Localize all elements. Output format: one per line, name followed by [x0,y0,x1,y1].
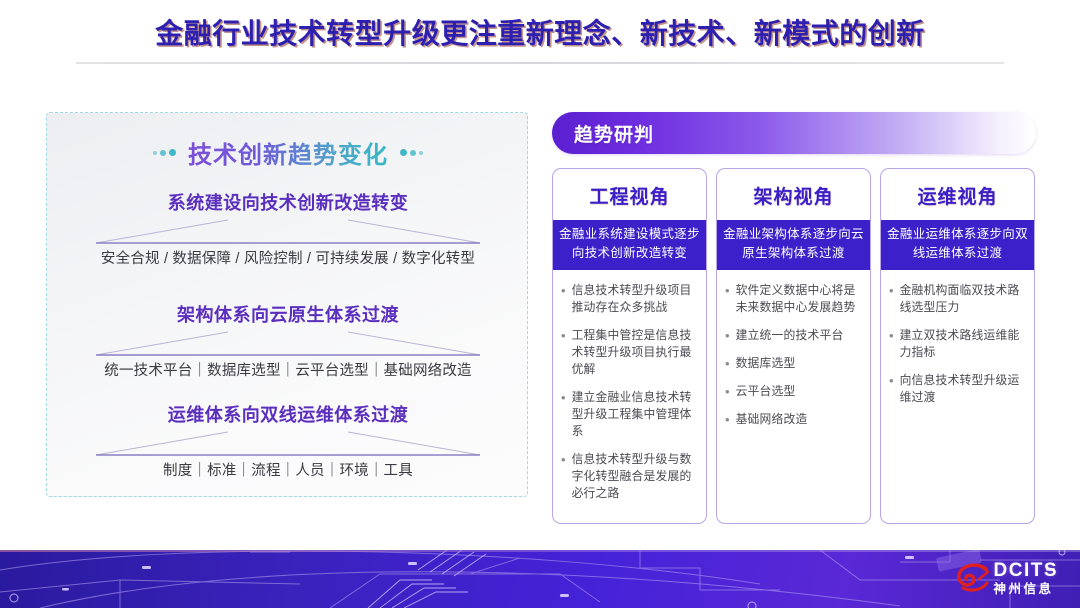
bullet-dot-icon: • [889,327,894,361]
funnel-shape-2-icon [88,331,488,357]
trend-group-2: 架构体系向云原生体系过渡 统一技术平台｜数据库选型｜云平台选型｜基础网络改造 [47,301,529,380]
funnel-shape-1-icon [88,219,488,245]
trend-judgement-banner: 趋势研判 [552,112,1036,154]
dcits-swirl-icon [955,563,989,593]
perspective-card[interactable]: 运维视角 金融业运维体系逐步向双线运维体系过渡 • 金融机构面临双技术路线选型压… [880,168,1035,524]
list-item-label: 数据库选型 [736,355,796,372]
list-item-label: 建立统一的技术平台 [736,327,844,344]
footer-top-edge [0,550,1080,552]
bullet-dot-icon: • [561,389,566,440]
circuit-pattern-icon [0,550,1080,608]
trend-change-panel: 技术创新趋势变化 系统建设向技术创新改造转变 安全合规 / 数据保障 / 风险控… [46,112,528,497]
card-title: 工程视角 [553,169,706,220]
list-item: • 建立统一的技术平台 [725,327,862,344]
list-item-label: 软件定义数据中心将是未来数据中心发展趋势 [736,282,862,316]
page-title: 金融行业技术转型升级更注重新理念、新技术、新模式的创新 [0,12,1080,52]
bullet-dot-icon: • [725,383,730,400]
trend-group-3-items: 制度｜标准｜流程｜人员｜环境｜工具 [47,459,529,480]
slide-header: 金融行业技术转型升级更注重新理念、新技术、新模式的创新 [0,0,1080,72]
trend-group-1-items: 安全合规 / 数据保障 / 风险控制 / 可持续发展 / 数字化转型 [47,247,529,268]
bullet-dot-icon: • [561,327,566,378]
list-item-label: 云平台选型 [736,383,796,400]
trend-group-1: 系统建设向技术创新改造转变 安全合规 / 数据保障 / 风险控制 / 可持续发展… [47,189,529,268]
list-item-label: 工程集中管控是信息技术转型升级项目执行最优解 [572,327,698,378]
card-bullet-list: • 信息技术转型升级项目推动存在众多挑战 • 工程集中管控是信息技术转型升级项目… [553,270,706,523]
card-title: 运维视角 [881,169,1034,220]
left-panel-heading-label: 技术创新趋势变化 [188,135,388,170]
list-item: • 信息技术转型升级与数字化转型融合是发展的必行之路 [561,451,698,502]
title-divider [76,62,1004,64]
trend-group-2-items: 统一技术平台｜数据库选型｜云平台选型｜基础网络改造 [47,359,529,380]
company-logo: DCITS 神州信息 [955,561,1059,596]
list-item: • 金融机构面临双技术路线选型压力 [889,282,1026,316]
list-item: • 云平台选型 [725,383,862,400]
bullet-dot-icon: • [725,327,730,344]
funnel-shape-3-icon [88,431,488,457]
list-item-label: 信息技术转型升级项目推动存在众多挑战 [572,282,698,316]
perspective-card[interactable]: 工程视角 金融业系统建设模式逐步向技术创新改造转变 • 信息技术转型升级项目推动… [552,168,707,524]
card-subtitle: 金融业运维体系逐步向双线运维体系过渡 [881,220,1034,270]
list-item: • 信息技术转型升级项目推动存在众多挑战 [561,282,698,316]
card-subtitle: 金融业系统建设模式逐步向技术创新改造转变 [553,220,706,270]
list-item: • 工程集中管控是信息技术转型升级项目执行最优解 [561,327,698,378]
list-item-label: 建立双技术路线运维能力指标 [900,327,1026,361]
card-title: 架构视角 [717,169,870,220]
logo-text-block: DCITS 神州信息 [994,561,1059,596]
list-item-label: 信息技术转型升级与数字化转型融合是发展的必行之路 [572,451,698,502]
trend-judgement-panel: 趋势研判 工程视角 金融业系统建设模式逐步向技术创新改造转变 • 信息技术转型升… [552,112,1036,502]
list-item: • 向信息技术转型升级运维过渡 [889,372,1026,406]
left-panel-heading: 技术创新趋势变化 [47,135,529,170]
bullet-dot-icon: • [889,372,894,406]
list-item-label: 建立金融业信息技术转型升级工程集中管理体系 [572,389,698,440]
list-item-label: 向信息技术转型升级运维过渡 [900,372,1026,406]
bullet-dot-icon: • [889,282,894,316]
bullet-dot-icon: • [561,451,566,502]
dots-left-icon [153,149,176,156]
list-item: • 软件定义数据中心将是未来数据中心发展趋势 [725,282,862,316]
bullet-dot-icon: • [725,411,730,428]
trend-group-3-title: 运维体系向双线运维体系过渡 [47,401,529,427]
list-item: • 基础网络改造 [725,411,862,428]
card-bullet-list: • 软件定义数据中心将是未来数据中心发展趋势 • 建立统一的技术平台 • 数据库… [717,270,870,523]
bullet-dot-icon: • [725,355,730,372]
perspective-card[interactable]: 架构视角 金融业架构体系逐步向云原生架构体系过渡 • 软件定义数据中心将是未来数… [716,168,871,524]
logo-en-label: DCITS [994,561,1059,580]
card-subtitle: 金融业架构体系逐步向云原生架构体系过渡 [717,220,870,270]
footer-banner: DCITS 神州信息 [0,550,1080,608]
trend-judgement-banner-label: 趋势研判 [574,120,654,147]
list-item-label: 金融机构面临双技术路线选型压力 [900,282,1026,316]
list-item: • 建立金融业信息技术转型升级工程集中管理体系 [561,389,698,440]
logo-cn-label: 神州信息 [994,583,1059,596]
card-bullet-list: • 金融机构面临双技术路线选型压力 • 建立双技术路线运维能力指标 • 向信息技… [881,270,1034,523]
trend-group-3: 运维体系向双线运维体系过渡 制度｜标准｜流程｜人员｜环境｜工具 [47,401,529,480]
list-item-label: 基础网络改造 [736,411,808,428]
list-item: • 数据库选型 [725,355,862,372]
perspective-card-list: 工程视角 金融业系统建设模式逐步向技术创新改造转变 • 信息技术转型升级项目推动… [552,168,1036,524]
trend-group-2-title: 架构体系向云原生体系过渡 [47,301,529,327]
trend-group-1-title: 系统建设向技术创新改造转变 [47,189,529,215]
dots-right-icon [400,149,423,156]
list-item: • 建立双技术路线运维能力指标 [889,327,1026,361]
bullet-dot-icon: • [561,282,566,316]
bullet-dot-icon: • [725,282,730,316]
